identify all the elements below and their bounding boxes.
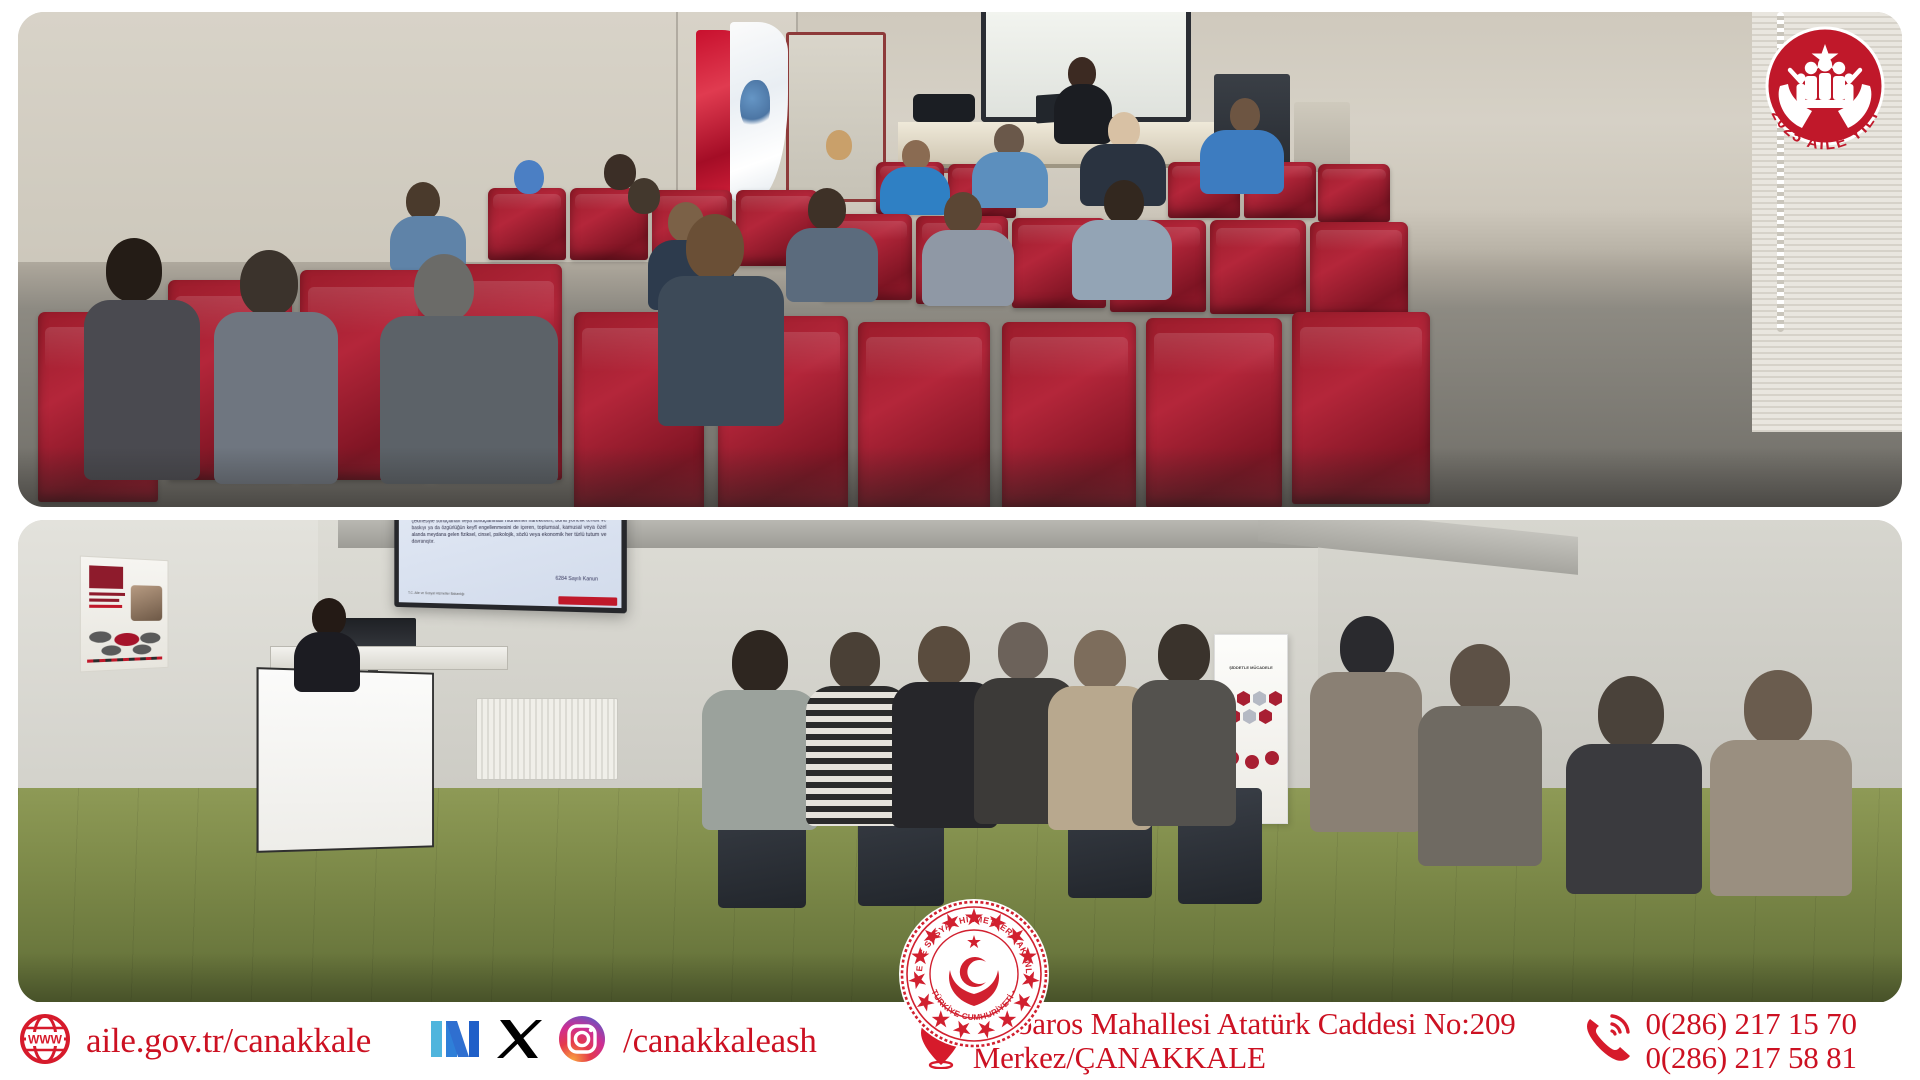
attendee-head (1450, 644, 1510, 712)
attendee-head (406, 182, 440, 220)
poster-bubble (133, 644, 152, 654)
poster-image (89, 565, 123, 589)
svg-text:WWW: WWW (28, 1032, 63, 1046)
poster-line (89, 598, 119, 601)
slide-logo-text: T.C. Aile ve Sosyal Hizmetler Bakanlığı (408, 591, 464, 596)
hex (1237, 691, 1250, 706)
attendee-head (998, 622, 1048, 680)
attendee-torso (702, 690, 818, 830)
instagram-icon[interactable] (557, 1014, 607, 1069)
attendee-head (240, 250, 298, 316)
attendee-torso (1418, 706, 1542, 866)
poster-bubble-red (114, 633, 139, 647)
attendee-head (1744, 670, 1812, 746)
attendee-head (1158, 624, 1210, 684)
attendee-torso (1072, 220, 1172, 300)
presenter-torso (1054, 84, 1112, 144)
year-badge-2025-aile-yili: 2025 AİLE YILI (1750, 16, 1898, 164)
poster-photo (131, 585, 162, 621)
attendee-torso (1132, 680, 1236, 826)
phone-line-2[interactable]: 0(286) 217 58 81 (1646, 1041, 1857, 1075)
hex (1253, 691, 1266, 706)
poster-line (89, 605, 122, 608)
globe-www-icon: WWW (18, 1012, 72, 1071)
poster-stripe (87, 656, 162, 662)
seat (1210, 220, 1306, 314)
ministry-seal: AİLE VE SOSYAL HİZMETLER BAKANLIĞI TÜRKİ… (898, 898, 1050, 1050)
poster-bubble (140, 632, 160, 643)
hex (1259, 709, 1272, 724)
rollup-title: ŞİDDETLE MÜCADELE (1215, 665, 1287, 670)
poster-bubble (89, 631, 111, 643)
attendee-head (628, 178, 660, 214)
address-line-1: Barbaros Mahallesi Atatürk Caddesi No:20… (973, 1007, 1516, 1041)
attendee-head (1104, 180, 1144, 224)
attendee-head (686, 214, 744, 280)
attendee-torso (880, 167, 950, 215)
presenter-torso (294, 632, 360, 692)
slide-reference: 6284 Sayılı Kanun (555, 576, 598, 583)
whiteboard (257, 667, 434, 853)
auditorium-scene (18, 12, 1902, 507)
seat (1310, 222, 1408, 318)
address-line-2: Merkez/ÇANAKKALE (973, 1041, 1516, 1075)
attendee-head (902, 140, 930, 170)
attendee-head (918, 626, 970, 686)
slide-accent-bar (558, 596, 617, 606)
slide-body: Kişinin, fiziksel, cinsel, psikolojik ve… (412, 520, 607, 546)
attendee-torso (1310, 672, 1422, 832)
presenter-head (312, 598, 346, 636)
attendee-head (1340, 616, 1394, 678)
attendee-torso (1566, 744, 1702, 894)
phone-line-1[interactable]: 0(286) 217 15 70 (1646, 1007, 1857, 1041)
wall-poster (80, 556, 169, 673)
hex (1243, 709, 1256, 724)
rollup-badge (1245, 755, 1259, 769)
folded-coat (913, 94, 975, 122)
x-twitter-icon[interactable] (495, 1016, 543, 1067)
attendee-head (1598, 676, 1664, 750)
website-group[interactable]: WWW aile.gov.tr/canakkale (18, 1012, 371, 1071)
attendee-torso (1710, 740, 1852, 896)
facebook-n-icon[interactable] (429, 1015, 481, 1068)
attendee-head (106, 238, 162, 302)
poster-bubble (101, 645, 121, 656)
attendee-torso (1200, 130, 1284, 194)
attendee-head (944, 192, 982, 234)
poster-line (89, 592, 125, 596)
seat (488, 188, 566, 260)
attendee-head (732, 630, 788, 694)
address-lines: Barbaros Mahallesi Atatürk Caddesi No:20… (973, 1007, 1516, 1075)
attendee-head (1230, 98, 1260, 132)
poster-canvas: ŞİDDET NEDİR? Kişinin, fiziksel, cinsel,… (0, 0, 1920, 1080)
attendee-torso (786, 228, 878, 302)
attendee-head (826, 130, 852, 160)
seat (1318, 164, 1390, 222)
attendee-torso (658, 276, 784, 426)
attendee-head (1074, 630, 1126, 690)
website-url[interactable]: aile.gov.tr/canakkale (86, 1021, 371, 1061)
presentation-screen: ŞİDDET NEDİR? Kişinin, fiziksel, cinsel,… (394, 520, 627, 613)
phone-lines: 0(286) 217 15 70 0(286) 217 58 81 (1646, 1007, 1857, 1075)
social-group[interactable]: /canakkaleash (429, 1014, 817, 1069)
attendee-head (514, 160, 544, 194)
attendee-torso (972, 152, 1048, 208)
attendee-head (830, 632, 880, 690)
phone-group: 0(286) 217 15 70 0(286) 217 58 81 (1578, 1007, 1857, 1075)
photo-auditorium (18, 12, 1902, 507)
attendee-head (414, 254, 474, 322)
floor-shadow (18, 447, 1902, 507)
attendee-head (808, 188, 846, 230)
rollup-badge (1265, 751, 1279, 765)
social-handle[interactable]: /canakkaleash (623, 1021, 817, 1061)
hex (1269, 691, 1282, 706)
radiator (476, 698, 618, 780)
attendee-head (1108, 112, 1140, 148)
door (786, 32, 886, 202)
phone-ring-icon (1578, 1010, 1636, 1073)
attendee-torso (922, 230, 1014, 306)
